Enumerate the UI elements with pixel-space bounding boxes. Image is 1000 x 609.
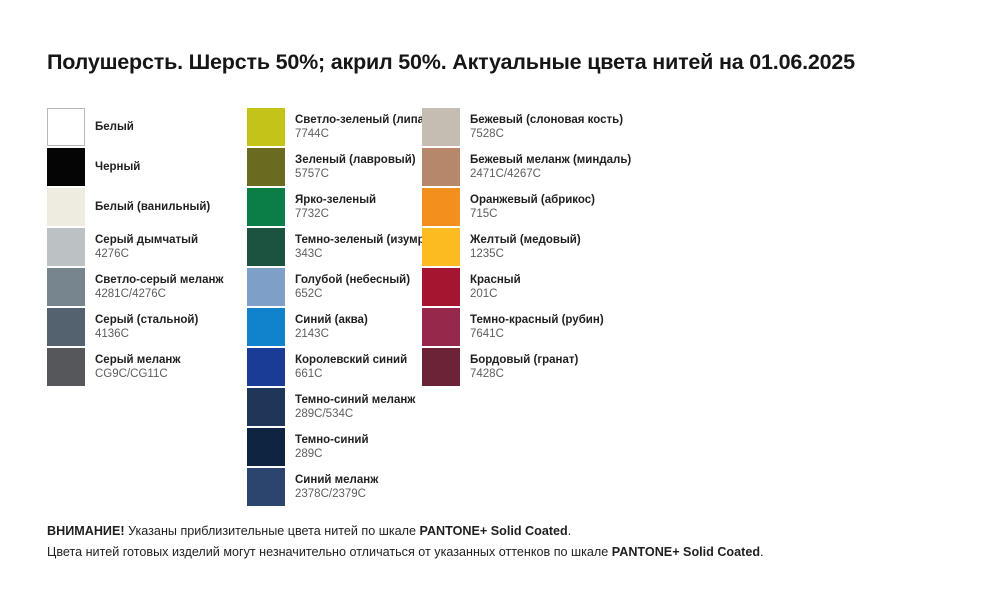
color-swatch[interactable] bbox=[422, 308, 460, 346]
color-swatch[interactable] bbox=[247, 388, 285, 426]
footer-notes: ВНИМАНИЕ! Указаны приблизительные цвета … bbox=[47, 521, 957, 563]
color-swatch[interactable] bbox=[422, 188, 460, 226]
color-swatch[interactable] bbox=[47, 148, 85, 186]
swatch-pantone-code: 7428C bbox=[470, 367, 578, 381]
swatch-pantone-code: 2471C/4267C bbox=[470, 167, 631, 181]
swatch-labels: Красный201C bbox=[470, 268, 521, 306]
color-swatch[interactable] bbox=[247, 428, 285, 466]
swatch-row[interactable]: Синий (аква)2143C bbox=[247, 308, 447, 348]
color-swatch[interactable] bbox=[247, 148, 285, 186]
footer-line-1-end: . bbox=[568, 524, 572, 538]
swatch-row[interactable]: Светло-серый меланж4281C/4276C bbox=[47, 268, 247, 308]
swatch-row[interactable]: Оранжевый (абрикос)715C bbox=[422, 188, 672, 228]
swatch-labels: Серый меланжCG9C/CG11C bbox=[95, 348, 181, 386]
color-chart-page: Полушерсть. Шерсть 50%; акрил 50%. Актуа… bbox=[0, 0, 1000, 609]
swatch-name: Серый дымчатый bbox=[95, 233, 198, 247]
swatch-row[interactable]: Белый bbox=[47, 108, 247, 148]
color-swatch[interactable] bbox=[422, 228, 460, 266]
color-swatch[interactable] bbox=[247, 268, 285, 306]
swatch-pantone-code: 7732C bbox=[295, 207, 376, 221]
swatch-pantone-code: 289C/534C bbox=[295, 407, 415, 421]
swatch-pantone-code: 715C bbox=[470, 207, 595, 221]
swatch-row[interactable]: Темно-синий289C bbox=[247, 428, 447, 468]
swatch-labels: Желтый (медовый)1235C bbox=[470, 228, 581, 266]
swatch-row[interactable]: Темно-зеленый (изумруд)343C bbox=[247, 228, 447, 268]
swatch-name: Зеленый (лавровый) bbox=[295, 153, 416, 167]
swatch-pantone-code: 201C bbox=[470, 287, 521, 301]
swatch-row[interactable]: Желтый (медовый)1235C bbox=[422, 228, 672, 268]
swatch-name: Красный bbox=[470, 273, 521, 287]
swatch-name: Серый (стальной) bbox=[95, 313, 198, 327]
swatch-row[interactable]: Зеленый (лавровый)5757C bbox=[247, 148, 447, 188]
color-swatch[interactable] bbox=[247, 188, 285, 226]
swatch-pantone-code: 2143C bbox=[295, 327, 368, 341]
swatch-labels: Белый bbox=[95, 108, 134, 146]
swatch-row[interactable]: Темно-красный (рубин)7641C bbox=[422, 308, 672, 348]
swatch-name: Королевский синий bbox=[295, 353, 407, 367]
swatch-name: Бордовый (гранат) bbox=[470, 353, 578, 367]
swatch-labels: Белый (ванильный) bbox=[95, 188, 210, 226]
swatch-pantone-code: 4281C/4276C bbox=[95, 287, 224, 301]
swatch-name: Светло-зеленый (липа) bbox=[295, 113, 428, 127]
footer-line-2: Цвета нитей готовых изделий могут незнач… bbox=[47, 542, 957, 563]
swatch-row[interactable]: Королевский синий661C bbox=[247, 348, 447, 388]
swatch-row[interactable]: Голубой (небесный)652C bbox=[247, 268, 447, 308]
swatch-name: Желтый (медовый) bbox=[470, 233, 581, 247]
swatch-row[interactable]: Серый дымчатый4276C bbox=[47, 228, 247, 268]
color-swatch[interactable] bbox=[47, 268, 85, 306]
footer-line-2-end: . bbox=[760, 545, 764, 559]
swatch-pantone-code: 4136C bbox=[95, 327, 198, 341]
swatch-pantone-code: 2378C/2379C bbox=[295, 487, 378, 501]
swatch-row[interactable]: Темно-синий меланж289C/534C bbox=[247, 388, 447, 428]
swatch-row[interactable]: Синий меланж2378C/2379C bbox=[247, 468, 447, 508]
swatch-row[interactable]: Белый (ванильный) bbox=[47, 188, 247, 228]
swatch-labels: Бордовый (гранат)7428C bbox=[470, 348, 578, 386]
pantone-brand-2: PANTONE+ Solid Coated bbox=[612, 545, 760, 559]
footer-line-2-text: Цвета нитей готовых изделий могут незнач… bbox=[47, 545, 612, 559]
swatch-labels: Голубой (небесный)652C bbox=[295, 268, 410, 306]
swatch-labels: Оранжевый (абрикос)715C bbox=[470, 188, 595, 226]
swatch-column-1: Светло-зеленый (липа)7744CЗеленый (лавро… bbox=[247, 108, 447, 508]
swatch-labels: Темно-красный (рубин)7641C bbox=[470, 308, 604, 346]
swatch-name: Черный bbox=[95, 160, 140, 174]
footer-line-1-text: Указаны приблизительные цвета нитей по ш… bbox=[125, 524, 420, 538]
swatch-labels: Бежевый (слоновая кость)7528C bbox=[470, 108, 623, 146]
swatch-row[interactable]: Бордовый (гранат)7428C bbox=[422, 348, 672, 388]
swatch-pantone-code: 4276C bbox=[95, 247, 198, 261]
swatch-name: Светло-серый меланж bbox=[95, 273, 224, 287]
swatch-labels: Зеленый (лавровый)5757C bbox=[295, 148, 416, 186]
swatch-row[interactable]: Бежевый меланж (миндаль)2471C/4267C bbox=[422, 148, 672, 188]
swatch-row[interactable]: Красный201C bbox=[422, 268, 672, 308]
swatch-labels: Темно-синий меланж289C/534C bbox=[295, 388, 415, 426]
swatch-labels: Королевский синий661C bbox=[295, 348, 407, 386]
footer-attention-label: ВНИМАНИЕ! bbox=[47, 524, 125, 538]
color-swatch[interactable] bbox=[247, 108, 285, 146]
swatch-labels: Синий меланж2378C/2379C bbox=[295, 468, 378, 506]
swatch-row[interactable]: Серый (стальной)4136C bbox=[47, 308, 247, 348]
swatch-pantone-code: 652C bbox=[295, 287, 410, 301]
swatch-pantone-code: 7641C bbox=[470, 327, 604, 341]
color-swatch[interactable] bbox=[422, 268, 460, 306]
swatch-name: Серый меланж bbox=[95, 353, 181, 367]
color-swatch[interactable] bbox=[247, 348, 285, 386]
swatch-name: Бежевый меланж (миндаль) bbox=[470, 153, 631, 167]
swatch-pantone-code: 1235C bbox=[470, 247, 581, 261]
swatch-name: Ярко-зеленый bbox=[295, 193, 376, 207]
pantone-brand-1: PANTONE+ Solid Coated bbox=[419, 524, 567, 538]
swatch-name: Темно-синий bbox=[295, 433, 369, 447]
swatch-row[interactable]: Бежевый (слоновая кость)7528C bbox=[422, 108, 672, 148]
color-swatch[interactable] bbox=[422, 348, 460, 386]
color-swatch[interactable] bbox=[47, 348, 85, 386]
swatch-labels: Бежевый меланж (миндаль)2471C/4267C bbox=[470, 148, 631, 186]
swatch-row[interactable]: Ярко-зеленый7732C bbox=[247, 188, 447, 228]
swatch-name: Белый bbox=[95, 120, 134, 134]
swatch-name: Белый (ванильный) bbox=[95, 200, 210, 214]
swatch-name: Синий меланж bbox=[295, 473, 378, 487]
swatch-pantone-code: 661C bbox=[295, 367, 407, 381]
swatch-name: Темно-синий меланж bbox=[295, 393, 415, 407]
swatch-name: Темно-зеленый (изумруд) bbox=[295, 233, 442, 247]
swatch-labels: Черный bbox=[95, 148, 140, 186]
swatch-row[interactable]: Серый меланжCG9C/CG11C bbox=[47, 348, 247, 388]
swatch-column-2: Бежевый (слоновая кость)7528CБежевый мел… bbox=[422, 108, 672, 388]
swatch-column-0: БелыйЧерныйБелый (ванильный)Серый дымчат… bbox=[47, 108, 247, 388]
swatch-name: Голубой (небесный) bbox=[295, 273, 410, 287]
swatch-labels: Светло-зеленый (липа)7744C bbox=[295, 108, 428, 146]
swatch-labels: Темно-зеленый (изумруд)343C bbox=[295, 228, 442, 266]
swatch-name: Оранжевый (абрикос) bbox=[470, 193, 595, 207]
swatch-labels: Серый (стальной)4136C bbox=[95, 308, 198, 346]
swatch-pantone-code: 5757C bbox=[295, 167, 416, 181]
swatch-pantone-code: CG9C/CG11C bbox=[95, 367, 181, 381]
swatch-name: Темно-красный (рубин) bbox=[470, 313, 604, 327]
color-swatch[interactable] bbox=[47, 108, 85, 146]
color-swatch[interactable] bbox=[47, 188, 85, 226]
color-swatch[interactable] bbox=[247, 228, 285, 266]
swatch-pantone-code: 289C bbox=[295, 447, 369, 461]
swatch-labels: Темно-синий289C bbox=[295, 428, 369, 466]
color-swatch[interactable] bbox=[47, 228, 85, 266]
swatch-pantone-code: 7528C bbox=[470, 127, 623, 141]
swatch-labels: Ярко-зеленый7732C bbox=[295, 188, 376, 226]
swatch-pantone-code: 343C bbox=[295, 247, 442, 261]
page-title: Полушерсть. Шерсть 50%; акрил 50%. Актуа… bbox=[47, 50, 855, 75]
color-swatch[interactable] bbox=[47, 308, 85, 346]
color-swatch[interactable] bbox=[422, 108, 460, 146]
swatch-name: Бежевый (слоновая кость) bbox=[470, 113, 623, 127]
swatch-labels: Серый дымчатый4276C bbox=[95, 228, 198, 266]
color-swatch[interactable] bbox=[422, 148, 460, 186]
swatch-pantone-code: 7744C bbox=[295, 127, 428, 141]
swatch-labels: Светло-серый меланж4281C/4276C bbox=[95, 268, 224, 306]
swatch-row[interactable]: Черный bbox=[47, 148, 247, 188]
swatch-name: Синий (аква) bbox=[295, 313, 368, 327]
swatch-labels: Синий (аква)2143C bbox=[295, 308, 368, 346]
swatch-row[interactable]: Светло-зеленый (липа)7744C bbox=[247, 108, 447, 148]
color-swatch[interactable] bbox=[247, 468, 285, 506]
footer-line-1: ВНИМАНИЕ! Указаны приблизительные цвета … bbox=[47, 521, 957, 542]
color-swatch[interactable] bbox=[247, 308, 285, 346]
